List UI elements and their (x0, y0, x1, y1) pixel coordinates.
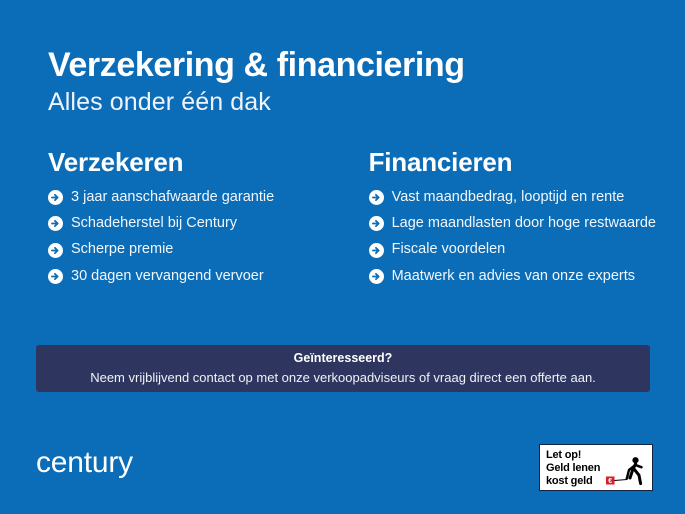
title-block: Verzekering & financiering Alles onder é… (48, 46, 648, 118)
list-item: 3 jaar aanschafwaarde garantie (48, 189, 332, 206)
column-financieren: Financieren Vast maandbedrag, looptijd e… (369, 148, 656, 294)
feature-label: Maatwerk en advies van onze experts (392, 268, 635, 285)
slide-canvas: Verzekering & financiering Alles onder é… (0, 0, 685, 514)
feature-label: Schadeherstel bij Century (71, 215, 237, 232)
feature-list-verzekeren: 3 jaar aanschafwaarde garantie Schadeher… (48, 189, 332, 286)
column-verzekeren: Verzekeren 3 jaar aanschafwaarde garanti… (48, 148, 332, 294)
arrow-circle-right-icon (48, 190, 63, 205)
century-logo: century (36, 448, 133, 478)
column-heading-financieren: Financieren (369, 148, 656, 177)
column-heading-verzekeren: Verzekeren (48, 148, 332, 177)
list-item: 30 dagen vervangend vervoer (48, 268, 332, 285)
page-subtitle: Alles onder één dak (48, 88, 648, 118)
arrow-circle-right-icon (369, 190, 384, 205)
arrow-circle-right-icon (48, 269, 63, 284)
credit-warning-box: Let op! Geld lenen kost geld € (539, 444, 653, 491)
list-item: Lage maandlasten door hoge restwaarde (369, 215, 656, 232)
feature-label: Scherpe premie (71, 241, 173, 258)
feature-columns: Verzekeren 3 jaar aanschafwaarde garanti… (48, 148, 656, 294)
feature-label: Vast maandbedrag, looptijd en rente (392, 189, 625, 206)
list-item: Vast maandbedrag, looptijd en rente (369, 189, 656, 206)
list-item: Schadeherstel bij Century (48, 215, 332, 232)
cta-heading: Geïnteresseerd? (294, 351, 393, 367)
arrow-circle-right-icon (48, 216, 63, 231)
feature-label: 30 dagen vervangend vervoer (71, 268, 264, 285)
list-item: Scherpe premie (48, 241, 332, 258)
arrow-circle-right-icon (369, 269, 384, 284)
cta-banner: Geïnteresseerd? Neem vrijblijvend contac… (36, 345, 650, 392)
arrow-circle-right-icon (369, 216, 384, 231)
list-item: Fiscale voordelen (369, 241, 656, 258)
page-title: Verzekering & financiering (48, 46, 648, 84)
feature-list-financieren: Vast maandbedrag, looptijd en rente Lage… (369, 189, 656, 286)
arrow-circle-right-icon (48, 243, 63, 258)
list-item: Maatwerk en advies van onze experts (369, 268, 656, 285)
feature-label: Fiscale voordelen (392, 241, 506, 258)
person-dragging-money-block-icon: € (605, 456, 649, 488)
arrow-circle-right-icon (369, 243, 384, 258)
feature-label: Lage maandlasten door hoge restwaarde (392, 215, 656, 232)
svg-text:€: € (608, 478, 612, 485)
cta-text: Neem vrijblijvend contact op met onze ve… (90, 370, 596, 386)
feature-label: 3 jaar aanschafwaarde garantie (71, 189, 274, 206)
